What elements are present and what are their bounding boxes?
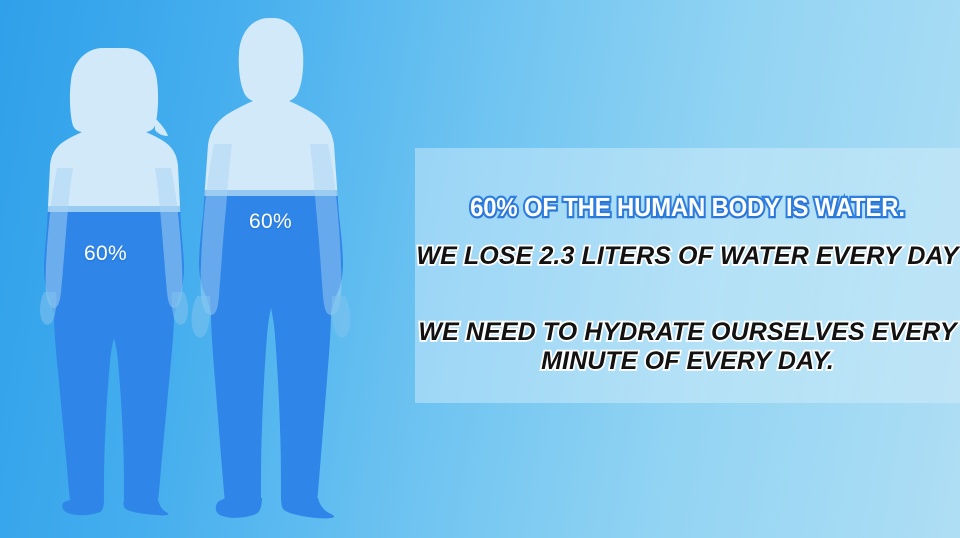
female-hand-right [172, 292, 188, 325]
body-figures-group: 60% 60% [0, 0, 420, 538]
male-silhouette [190, 0, 360, 538]
male-hand-left [192, 296, 211, 338]
female-foot-right [123, 500, 168, 515]
body-text-line-2: WE NEED TO HYDRATE OURSELVES EVERY MINUT… [415, 318, 960, 376]
body-text-line-1: WE LOSE 2.3 LITERS OF WATER EVERY DAY [415, 242, 960, 271]
female-foot-left [62, 500, 104, 515]
feet-group [62, 498, 334, 518]
male-foot-right [281, 498, 334, 518]
text-panel: 60% OF THE HUMAN BODY IS WATER. WE LOSE … [415, 148, 960, 403]
female-hair-flip [155, 118, 168, 136]
male-water-percent-label: 60% [249, 210, 292, 234]
headline-text: 60% OF THE HUMAN BODY IS WATER. [437, 192, 938, 223]
female-silhouette [30, 0, 210, 538]
male-foot-left [216, 498, 262, 518]
infographic-canvas: 60% 60% 60% OF THE HUMAN BODY IS WATER. … [0, 0, 960, 538]
female-hand-left [40, 292, 56, 325]
male-hand-right [332, 296, 351, 338]
female-water-percent-label: 60% [84, 242, 127, 266]
